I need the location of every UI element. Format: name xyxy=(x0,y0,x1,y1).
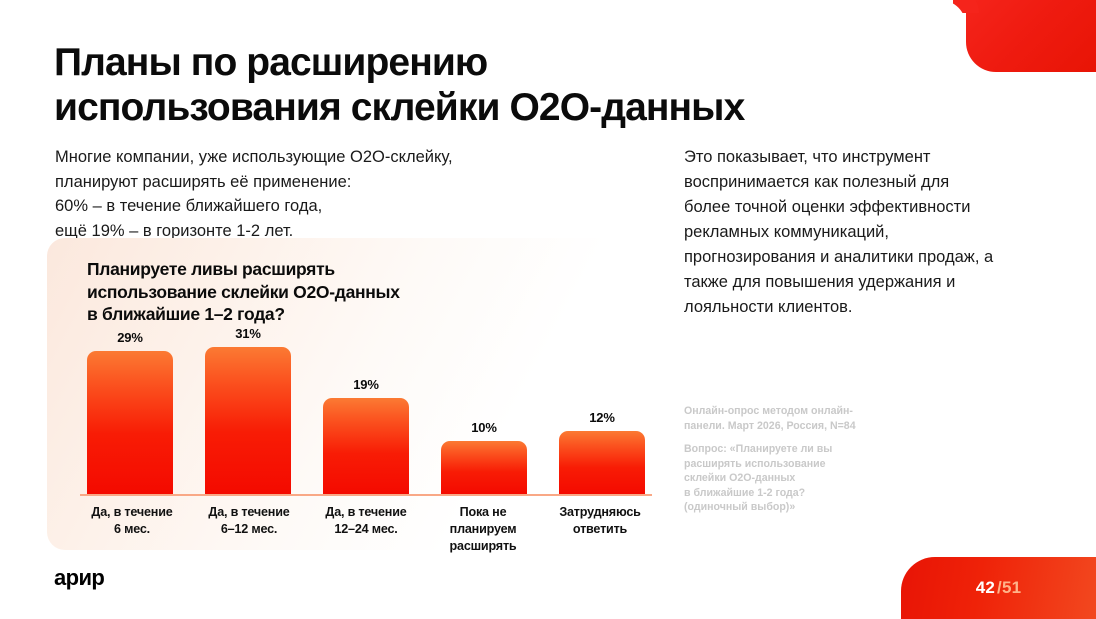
intro-right-line-2: воспринимается как полезный для xyxy=(684,170,1044,195)
footnote-question-line-2: расширять использование xyxy=(684,457,934,472)
bar-column: 31% xyxy=(198,326,298,494)
footnote-question-line-5: (одиночный выбор)» xyxy=(684,500,934,515)
bar-column: 12% xyxy=(552,326,652,494)
page-number-current: 42 xyxy=(976,578,995,598)
bar-rect xyxy=(205,347,291,494)
intro-left-line-1: Многие компании, уже использующие O2O-ск… xyxy=(55,145,565,170)
bar-value-label: 10% xyxy=(471,420,496,435)
footnote-source-line-2: панели. Март 2026, Россия, N=84 xyxy=(684,419,934,434)
intro-right-line-7: лояльности клиентов. xyxy=(684,295,1044,320)
intro-right-line-3: более точной оценки эффективности xyxy=(684,195,1044,220)
x-axis-label-line: Пока не xyxy=(431,504,535,521)
x-axis-label: Да, в течение12–24 мес. xyxy=(314,504,418,555)
chart-title-line-3: в ближайшие 1–2 года? xyxy=(87,303,557,326)
x-axis-label: Да, в течение6 мес. xyxy=(80,504,184,555)
bar-column: 29% xyxy=(80,326,180,494)
x-axis-label-line: 6 мес. xyxy=(80,521,184,538)
page-number-total: /51 xyxy=(997,578,1021,598)
page-title-line-1: Планы по расширению xyxy=(54,40,1004,85)
x-axis-label-line: расширять xyxy=(431,538,535,555)
intro-right-line-5: прогнозирования и аналитики продаж, а xyxy=(684,245,1044,270)
footnote-source: Онлайн-опрос методом онлайн- панели. Мар… xyxy=(684,404,934,433)
x-axis-label-line: Затрудняюсь xyxy=(548,504,652,521)
bar-value-label: 31% xyxy=(235,326,260,341)
footnote-question-line-3: склейки O2O-данных xyxy=(684,471,934,486)
bar-rect xyxy=(87,351,173,494)
x-axis-label-line: Да, в течение xyxy=(314,504,418,521)
intro-text-right: Это показывает, что инструмент восприним… xyxy=(684,145,1044,320)
x-axis-label: Да, в течение6–12 мес. xyxy=(197,504,301,555)
bar-rect xyxy=(559,431,645,494)
page-title: Планы по расширению использования склейк… xyxy=(54,40,1004,130)
chart-axis-baseline xyxy=(80,494,652,496)
intro-text-left: Многие компании, уже использующие O2O-ск… xyxy=(55,145,565,243)
x-axis-label-line: 12–24 мес. xyxy=(314,521,418,538)
brand-logo: арир xyxy=(54,565,104,591)
page-title-line-2: использования склейки O2O-данных xyxy=(54,85,1004,130)
slide-canvas: Планы по расширению использования склейк… xyxy=(0,0,1096,619)
footnote-question: Вопрос: «Планируете ли вы расширять испо… xyxy=(684,442,934,515)
page-number: 42 /51 xyxy=(901,557,1096,619)
x-axis-label-line: планируем xyxy=(431,521,535,538)
chart-title: Планируете ливы расширять использование … xyxy=(87,258,557,326)
x-axis-label-line: Да, в течение xyxy=(197,504,301,521)
bar-column: 19% xyxy=(316,326,416,494)
bar-chart-bars: 29%31%19%10%12% xyxy=(80,326,652,494)
bar-value-label: 12% xyxy=(589,410,614,425)
x-axis-label-line: ответить xyxy=(548,521,652,538)
chart-footnote: Онлайн-опрос методом онлайн- панели. Мар… xyxy=(684,404,934,515)
x-axis-label: Пока непланируемрасширять xyxy=(431,504,535,555)
chart-title-line-2: использование склейки O2O-данных xyxy=(87,281,557,304)
bar-value-label: 19% xyxy=(353,377,378,392)
intro-right-line-1: Это показывает, что инструмент xyxy=(684,145,1044,170)
bar-column: 10% xyxy=(434,326,534,494)
x-axis-label-line: 6–12 мес. xyxy=(197,521,301,538)
bar-chart-x-axis-labels: Да, в течение6 мес.Да, в течение6–12 мес… xyxy=(80,504,652,555)
bar-rect xyxy=(441,441,527,494)
footnote-question-line-4: в ближайшие 1-2 года? xyxy=(684,486,934,501)
footnote-source-line-1: Онлайн-опрос методом онлайн- xyxy=(684,404,934,419)
intro-left-line-3: 60% – в течение ближайшего года, xyxy=(55,194,565,219)
intro-right-line-6: также для повышения удержания и xyxy=(684,270,1044,295)
chart-title-line-1: Планируете ливы расширять xyxy=(87,258,557,281)
x-axis-label: Затрудняюсьответить xyxy=(548,504,652,555)
footnote-question-line-1: Вопрос: «Планируете ли вы xyxy=(684,442,934,457)
intro-left-line-2: планируют расширять её применение: xyxy=(55,170,565,195)
bar-value-label: 29% xyxy=(117,330,142,345)
intro-right-line-4: рекламных коммуникаций, xyxy=(684,220,1044,245)
bar-rect xyxy=(323,398,409,494)
x-axis-label-line: Да, в течение xyxy=(80,504,184,521)
